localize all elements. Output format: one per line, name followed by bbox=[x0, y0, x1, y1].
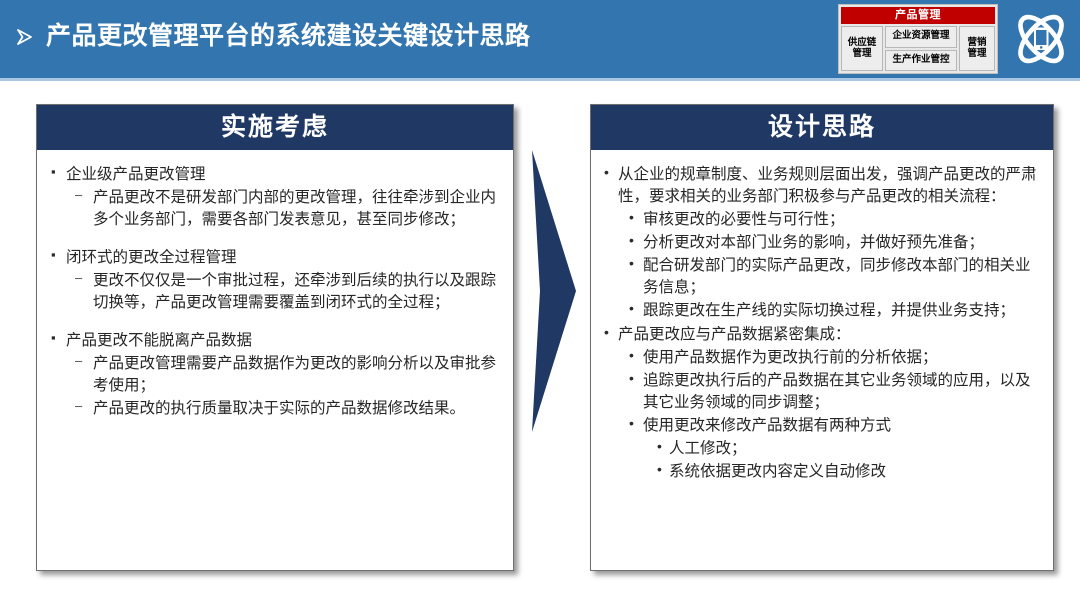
matrix-cell-mes: 生产作业管控 bbox=[885, 50, 957, 72]
panel-design-approach: 设计思路 从企业的规章制度、业务规则层面出发，强调产品更改的严肃性，要求相关的业… bbox=[590, 104, 1054, 571]
matrix-top-label: 产品管理 bbox=[841, 7, 995, 24]
list-item: 产品更改应与产品数据紧密集成： 使用产品数据作为更改执行前的分析依据； 追踪更改… bbox=[603, 324, 1041, 483]
group-heading: 从企业的规章制度、业务规则层面出发，强调产品更改的严肃性，要求相关的业务部门积极… bbox=[603, 164, 1041, 208]
sub-list: 使用产品数据作为更改执行前的分析依据； 追踪更改执行后的产品数据在其它业务领域的… bbox=[629, 347, 1041, 483]
list-item: 系统依据更改内容定义自动修改 bbox=[657, 461, 1041, 483]
matrix-cell-supply-chain: 供应链 管理 bbox=[841, 26, 883, 71]
page-title: 产品更改管理平台的系统建设关键设计思路 bbox=[46, 24, 531, 49]
list-item: 使用更改来修改产品数据有两种方式 人工修改； 系统依据更改内容定义自动修改 bbox=[629, 415, 1041, 483]
matrix-cell-erp: 企业资源管理 bbox=[885, 26, 957, 48]
list-item: 分析更改对本部门业务的影响，并做好预先准备； bbox=[629, 232, 1041, 254]
slide-canvas: 产品更改管理平台的系统建设关键设计思路 产品管理 供应链 管理 企业资源管理 生… bbox=[0, 0, 1080, 608]
right-panel-title: 设计思路 bbox=[591, 105, 1053, 150]
group-heading: 企业级产品更改管理 bbox=[49, 164, 501, 186]
sub-list: 产品更改不是研发部门内部的更改管理，往往牵涉到企业内多个业务部门，需要各部门发表… bbox=[75, 187, 501, 231]
list-item: 跟踪更改在生产线的实际切换过程，并提供业务支持； bbox=[629, 300, 1041, 322]
panel-implementation-considerations: 实施考虑 企业级产品更改管理 产品更改不是研发部门内部的更改管理，往往牵涉到企业… bbox=[36, 104, 514, 571]
list-item: 产品更改管理需要产品数据作为更改的影响分析以及审批参考使用； bbox=[75, 353, 501, 397]
left-panel-list: 企业级产品更改管理 产品更改不是研发部门内部的更改管理，往往牵涉到企业内多个业务… bbox=[49, 164, 501, 420]
sub-list: 产品更改管理需要产品数据作为更改的影响分析以及审批参考使用； 产品更改的执行质量… bbox=[75, 353, 501, 420]
slide-title-row: 产品更改管理平台的系统建设关键设计思路 bbox=[14, 24, 531, 49]
sub-list: 审核更改的必要性与可行性； 分析更改对本部门业务的影响，并做好预先准备； 配合研… bbox=[629, 209, 1041, 322]
list-item: 人工修改； bbox=[657, 438, 1041, 460]
list-item: 追踪更改执行后的产品数据在其它业务领域的应用，以及其它业务领域的同步调整； bbox=[629, 370, 1041, 414]
atom-tablet-logo-icon bbox=[1006, 4, 1076, 74]
matrix-middle-column: 企业资源管理 生产作业管控 bbox=[885, 26, 957, 71]
right-arrow-icon bbox=[528, 150, 580, 432]
list-item: 产品更改不能脱离产品数据 产品更改管理需要产品数据作为更改的影响分析以及审批参考… bbox=[49, 330, 501, 420]
list-item: 企业级产品更改管理 产品更改不是研发部门内部的更改管理，往往牵涉到企业内多个业务… bbox=[49, 164, 501, 231]
left-panel-body: 企业级产品更改管理 产品更改不是研发部门内部的更改管理，往往牵涉到企业内多个业务… bbox=[37, 150, 513, 430]
sub-heading: 使用更改来修改产品数据有两种方式 bbox=[629, 415, 1041, 437]
matrix-bottom-row: 供应链 管理 企业资源管理 生产作业管控 营销 管理 bbox=[841, 26, 995, 71]
brand-logo-block: 产品管理 供应链 管理 企业资源管理 生产作业管控 营销 管理 bbox=[838, 4, 1076, 78]
right-panel-body: 从企业的规章制度、业务规则层面出发，强调产品更改的严肃性，要求相关的业务部门积极… bbox=[591, 150, 1053, 493]
left-panel-title: 实施考虑 bbox=[37, 105, 513, 150]
list-item: 审核更改的必要性与可行性； bbox=[629, 209, 1041, 231]
list-item: 使用产品数据作为更改执行前的分析依据； bbox=[629, 347, 1041, 369]
product-matrix-diagram: 产品管理 供应链 管理 企业资源管理 生产作业管控 营销 管理 bbox=[838, 4, 998, 74]
list-item: 从企业的规章制度、业务规则层面出发，强调产品更改的严肃性，要求相关的业务部门积极… bbox=[603, 164, 1041, 322]
list-item: 闭环式的更改全过程管理 更改不仅仅是一个审批过程，还牵涉到后续的执行以及跟踪切换… bbox=[49, 247, 501, 314]
matrix-cell-marketing: 营销 管理 bbox=[959, 26, 995, 71]
list-item: 配合研发部门的实际产品更改，同步修改本部门的相关业务信息； bbox=[629, 255, 1041, 299]
right-panel-list: 从企业的规章制度、业务规则层面出发，强调产品更改的严肃性，要求相关的业务部门积极… bbox=[603, 164, 1041, 483]
sub-list: 人工修改； 系统依据更改内容定义自动修改 bbox=[657, 438, 1041, 483]
group-heading: 闭环式的更改全过程管理 bbox=[49, 247, 501, 269]
group-heading: 产品更改不能脱离产品数据 bbox=[49, 330, 501, 352]
list-item: 产品更改不是研发部门内部的更改管理，往往牵涉到企业内多个业务部门，需要各部门发表… bbox=[75, 187, 501, 231]
sub-list: 更改不仅仅是一个审批过程，还牵涉到后续的执行以及跟踪切换等，产品更改管理需要覆盖… bbox=[75, 270, 501, 314]
list-item: 更改不仅仅是一个审批过程，还牵涉到后续的执行以及跟踪切换等，产品更改管理需要覆盖… bbox=[75, 270, 501, 314]
group-heading: 产品更改应与产品数据紧密集成： bbox=[603, 324, 1041, 346]
list-item: 产品更改的执行质量取决于实际的产品数据修改结果。 bbox=[75, 398, 501, 420]
arrow-head-icon bbox=[14, 26, 36, 48]
